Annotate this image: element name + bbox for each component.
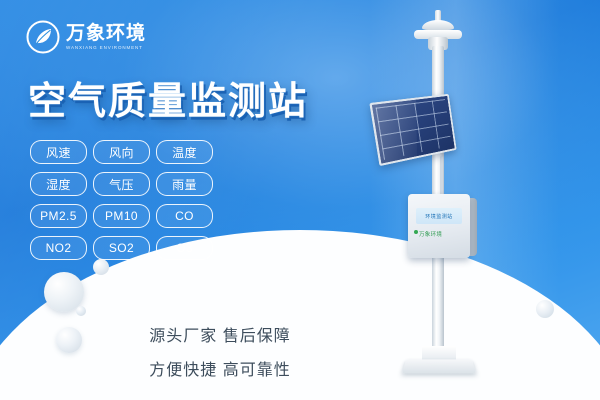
decorative-sphere — [93, 259, 109, 275]
parameter-tag: NO2 — [30, 236, 87, 260]
base-plate — [402, 359, 477, 373]
control-box: 环境监测站 万象环境 — [408, 194, 470, 258]
parameter-tag: 风速 — [30, 140, 87, 164]
parameter-tag: 温度 — [156, 140, 213, 164]
leaf-circle-icon — [26, 20, 60, 54]
monitoring-station-image: 环境监测站 万象环境 — [370, 6, 550, 396]
parameter-tag: 风向 — [93, 140, 150, 164]
control-box-brand-mark: 万象环境 — [419, 230, 442, 238]
decorative-sphere — [76, 306, 86, 316]
parameter-tag: 气压 — [93, 172, 150, 196]
parameter-tag: 湿度 — [30, 172, 87, 196]
anemometer-cup — [422, 20, 454, 30]
parameter-tag: SO2 — [93, 236, 150, 260]
brand-name-cn: 万象环境 — [66, 24, 146, 43]
parameter-tag-grid: 风速 风向 温度 湿度 气压 雨量 PM2.5 PM10 CO NO2 SO2 … — [30, 140, 213, 260]
parameter-tag: CO — [156, 204, 213, 228]
brand-logo: 万象环境 WANXIANG ENVIRONMENT — [26, 20, 146, 54]
status-indicator — [414, 230, 418, 234]
parameter-tag: PM2.5 — [30, 204, 87, 228]
product-banner: 万象环境 WANXIANG ENVIRONMENT 空气质量监测站 风速 风向 … — [0, 0, 600, 400]
control-box-label: 环境监测站 — [416, 208, 462, 224]
parameter-tag: PM10 — [93, 204, 150, 228]
solar-panel-gloss — [369, 96, 417, 166]
parameter-tag: 雨量 — [156, 172, 213, 196]
cable — [440, 156, 443, 196]
parameter-tag: O3 — [156, 236, 213, 260]
decorative-sphere — [56, 327, 82, 353]
slogan-line: 方便快捷 高可靠性 — [110, 356, 330, 380]
slogan-block: 源头厂家 售后保障 方便快捷 高可靠性 — [110, 322, 330, 390]
page-title: 空气质量监测站 — [28, 70, 308, 125]
brand-name-en: WANXIANG ENVIRONMENT — [66, 46, 146, 51]
slogan-line: 源头厂家 售后保障 — [110, 322, 330, 346]
